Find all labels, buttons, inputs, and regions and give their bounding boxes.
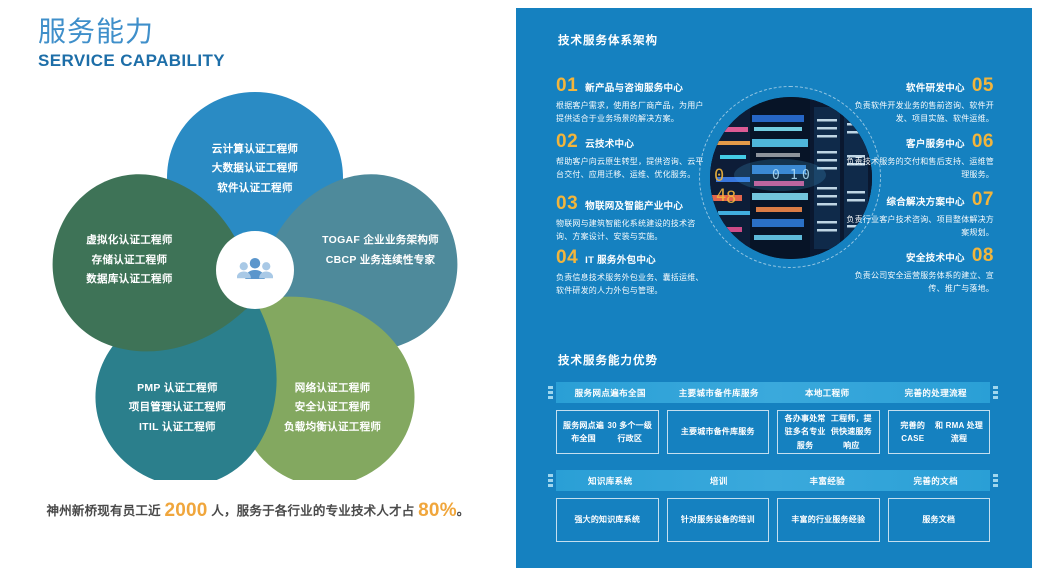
advantages-cell-line: 主要城市 (681, 425, 714, 438)
slide-root: 服务能力 SERVICE CAPABILITY 云计算认证工程师大数据认证工程师… (0, 0, 1041, 576)
advantages-cell-line: 备件库服务 (714, 425, 755, 438)
petal-line: 云计算认证工程师 (180, 140, 330, 159)
advantages-cell[interactable]: 针对服务设备的培训 (667, 498, 770, 542)
architecture-item-title: 软件研发中心 (906, 80, 965, 94)
petal-line: 项目管理认证工程师 (102, 398, 252, 417)
architecture-item-desc: 根据客户需求，使用各厂商产品，为用户提供适合于业务场景的解决方案。 (556, 99, 708, 125)
advantages-cell-line: 丰富的行业服务经验 (791, 513, 865, 526)
advantages-cell-line: 强大的知识库系统 (574, 513, 640, 526)
title-english: SERVICE CAPABILITY (38, 51, 225, 71)
caption-part3: 。 (457, 504, 470, 518)
architecture-item-desc: 负责公司安全运营服务体系的建立、宣传、推广与落地。 (842, 269, 994, 295)
advantages-cell-line: 服务网点遍布全国 (561, 419, 606, 445)
advantages-cell[interactable]: 完善的 CASE和 RMA 处理流程 (888, 410, 991, 454)
petal-line: ITIL 认证工程师 (102, 418, 252, 437)
architecture-item-title: 安全技术中心 (906, 250, 965, 264)
advantages-cell-row: 强大的知识库系统针对服务设备的培训丰富的行业服务经验服务文档 (556, 498, 990, 542)
advantages-column-header: 完善的文档 (882, 470, 991, 491)
architecture-item-number: 03 (556, 194, 578, 213)
architecture-item-desc: 物联网与建筑智能化系统建设的技术咨询、方案设计、安装与实施。 (556, 217, 708, 243)
architecture-item-06[interactable]: 客户服务中心06负责技术服务的交付和售后支持、运维管理服务。 (842, 132, 994, 181)
advantages-table-1: 服务网点遍布全国主要城市备件库服务本地工程师完善的处理流程服务网点遍布全国30 … (556, 382, 990, 454)
architecture-item-number: 04 (556, 248, 578, 267)
advantages-cell[interactable]: 强大的知识库系统 (556, 498, 659, 542)
architecture-item-head: 04IT 服务外包中心 (556, 248, 708, 267)
advantages-header-band: 知识库系统培训丰富经验完善的文档 (556, 470, 990, 491)
caption-part1: 神州新桥现有员工近 (47, 504, 161, 518)
advantages-cell[interactable]: 各办事处常驻多名专业服务工程师，提供快速服务响应 (777, 410, 880, 454)
caption-highlight-percent: 80% (418, 500, 457, 521)
advantages-cell-line: 30 多个一级行政区 (606, 419, 653, 445)
architecture-item-head: 02云技术中心 (556, 132, 708, 151)
architecture-item-head: 01新产品与咨询服务中心 (556, 76, 708, 95)
advantages-table-2: 知识库系统培训丰富经验完善的文档强大的知识库系统针对服务设备的培训丰富的行业服务… (556, 470, 990, 542)
advantages-cell-line: 各办事处常驻多名专业服务 (782, 412, 828, 452)
svg-text:0: 0 (714, 166, 724, 186)
caption-highlight-employees: 2000 (165, 500, 208, 521)
architecture-item-number: 02 (556, 132, 578, 151)
advantages-column-header: 知识库系统 (556, 470, 665, 491)
architecture-item-number: 01 (556, 76, 578, 95)
advantages-column-header: 服务网点遍布全国 (556, 382, 665, 403)
advantages-cell[interactable]: 服务网点遍布全国30 多个一级行政区 (556, 410, 659, 454)
architecture-item-desc: 负责信息技术服务外包业务、囊括运维、软件研发的人力外包与管理。 (556, 271, 708, 297)
advantages-cell[interactable]: 主要城市备件库服务 (667, 410, 770, 454)
advantages-cell-line: 完善的 CASE (893, 419, 933, 445)
architecture-item-desc: 负责行业客户技术咨询、项目整体解决方案规划。 (842, 213, 994, 239)
petal-label-pmp-project-itil: PMP 认证工程师项目管理认证工程师ITIL 认证工程师 (102, 379, 252, 437)
advantages-column-header: 丰富经验 (773, 470, 882, 491)
architecture-item-05[interactable]: 软件研发中心05负责软件开发业务的售前咨询、软件开发、项目实施、软件运维。 (842, 76, 994, 125)
architecture-item-title: 物联网及智能产业中心 (585, 198, 683, 212)
advantages-column-header: 主要城市备件库服务 (665, 382, 774, 403)
architecture-item-08[interactable]: 安全技术中心08负责公司安全运营服务体系的建立、宣传、推广与落地。 (842, 246, 994, 295)
architecture-item-07[interactable]: 综合解决方案中心07负责行业客户技术咨询、项目整体解决方案规划。 (842, 190, 994, 239)
petal-line: PMP 认证工程师 (102, 379, 252, 398)
svg-text:8: 8 (726, 188, 736, 208)
architecture-item-head: 03物联网及智能产业中心 (556, 194, 708, 213)
architecture-item-head: 软件研发中心05 (842, 76, 994, 95)
advantages-cell-line: 工程师，提供快速服务响应 (828, 412, 874, 452)
petal-line: 存储认证工程师 (54, 251, 204, 270)
staff-caption: 神州新桥现有员工近 2000 人，服务于各行业的专业技术人才占 80%。 (0, 500, 516, 522)
advantages-cell-line: 服务文档 (922, 513, 955, 526)
petal-line: TOGAF 企业业务架构师 (306, 231, 456, 250)
architecture-item-head: 综合解决方案中心07 (842, 190, 994, 209)
architecture-item-number: 05 (972, 76, 994, 95)
architecture-item-title: 综合解决方案中心 (886, 194, 964, 208)
advantages-column-header: 培训 (665, 470, 774, 491)
petal-line: 安全认证工程师 (258, 398, 408, 417)
advantages-column-header: 本地工程师 (773, 382, 882, 403)
petal-label-virtualization-storage-database: 虚拟化认证工程师存储认证工程师数据库认证工程师 (54, 231, 204, 289)
petal-line: 负载均衡认证工程师 (258, 418, 408, 437)
petal-line: 数据库认证工程师 (54, 270, 204, 289)
advantages-cell-line: 针对服务设备的培训 (681, 513, 755, 526)
architecture-item-desc: 负责技术服务的交付和售后支持、运维管理服务。 (842, 155, 994, 181)
architecture-item-head: 客户服务中心06 (842, 132, 994, 151)
petal-line: 网络认证工程师 (258, 379, 408, 398)
architecture-item-number: 06 (972, 132, 994, 151)
caption-part2: 人，服务于各行业的专业技术人才占 (211, 504, 414, 518)
architecture-item-desc: 帮助客户向云原生转型，提供咨询、云平台交付、应用迁移、运维、优化服务。 (556, 155, 708, 181)
svg-text:4: 4 (716, 186, 726, 206)
service-capability-panel: 服务能力 SERVICE CAPABILITY 云计算认证工程师大数据认证工程师… (0, 0, 516, 576)
petal-line: CBCP 业务连续性专家 (306, 251, 456, 270)
architecture-heading: 技术服务体系架构 (558, 32, 658, 48)
architecture-item-desc: 负责软件开发业务的售前咨询、软件开发、项目实施、软件运维。 (842, 99, 994, 125)
advantages-cell-row: 服务网点遍布全国30 多个一级行政区主要城市备件库服务各办事处常驻多名专业服务工… (556, 410, 990, 454)
architecture-item-title: 新产品与咨询服务中心 (585, 80, 683, 94)
petal-label-network-security-loadbalance: 网络认证工程师安全认证工程师负载均衡认证工程师 (258, 379, 408, 437)
advantages-column-header: 完善的处理流程 (882, 382, 991, 403)
architecture-item-title: IT 服务外包中心 (585, 252, 656, 266)
page-title: 服务能力 SERVICE CAPABILITY (38, 16, 225, 71)
capability-flower-diagram: 云计算认证工程师大数据认证工程师软件认证工程师TOGAF 企业业务架构师CBCP… (45, 90, 465, 480)
tech-service-panel: 技术服务体系架构 (516, 8, 1032, 568)
people-group-icon (237, 256, 273, 284)
architecture-item-number: 07 (972, 190, 994, 209)
architecture-item-number: 08 (972, 246, 994, 265)
petal-line: 虚拟化认证工程师 (54, 231, 204, 250)
architecture-item-01[interactable]: 01新产品与咨询服务中心根据客户需求，使用各厂商产品，为用户提供适合于业务场景的… (556, 76, 708, 125)
petal-label-togaf-cbcp: TOGAF 企业业务架构师CBCP 业务连续性专家 (306, 231, 456, 270)
architecture-item-title: 客户服务中心 (906, 136, 965, 150)
architecture-item-02[interactable]: 02云技术中心帮助客户向云原生转型，提供咨询、云平台交付、应用迁移、运维、优化服… (556, 132, 708, 181)
title-chinese: 服务能力 (38, 16, 225, 48)
architecture-item-title: 云技术中心 (585, 136, 634, 150)
petal-line: 大数据认证工程师 (180, 159, 330, 178)
advantages-cell-line: 和 RMA 处理流程 (933, 419, 985, 445)
advantages-cell[interactable]: 服务文档 (888, 498, 991, 542)
petal-line: 软件认证工程师 (180, 179, 330, 198)
advantages-cell[interactable]: 丰富的行业服务经验 (777, 498, 880, 542)
architecture-item-04[interactable]: 04IT 服务外包中心负责信息技术服务外包业务、囊括运维、软件研发的人力外包与管… (556, 248, 708, 297)
advantages-heading: 技术服务能力优势 (558, 352, 658, 368)
petal-label-cloud-big-data-software: 云计算认证工程师大数据认证工程师软件认证工程师 (180, 140, 330, 198)
architecture-item-03[interactable]: 03物联网及智能产业中心物联网与建筑智能化系统建设的技术咨询、方案设计、安装与实… (556, 194, 708, 243)
advantages-header-band: 服务网点遍布全国主要城市备件库服务本地工程师完善的处理流程 (556, 382, 990, 403)
center-people-badge (223, 238, 287, 302)
architecture-item-head: 安全技术中心08 (842, 246, 994, 265)
